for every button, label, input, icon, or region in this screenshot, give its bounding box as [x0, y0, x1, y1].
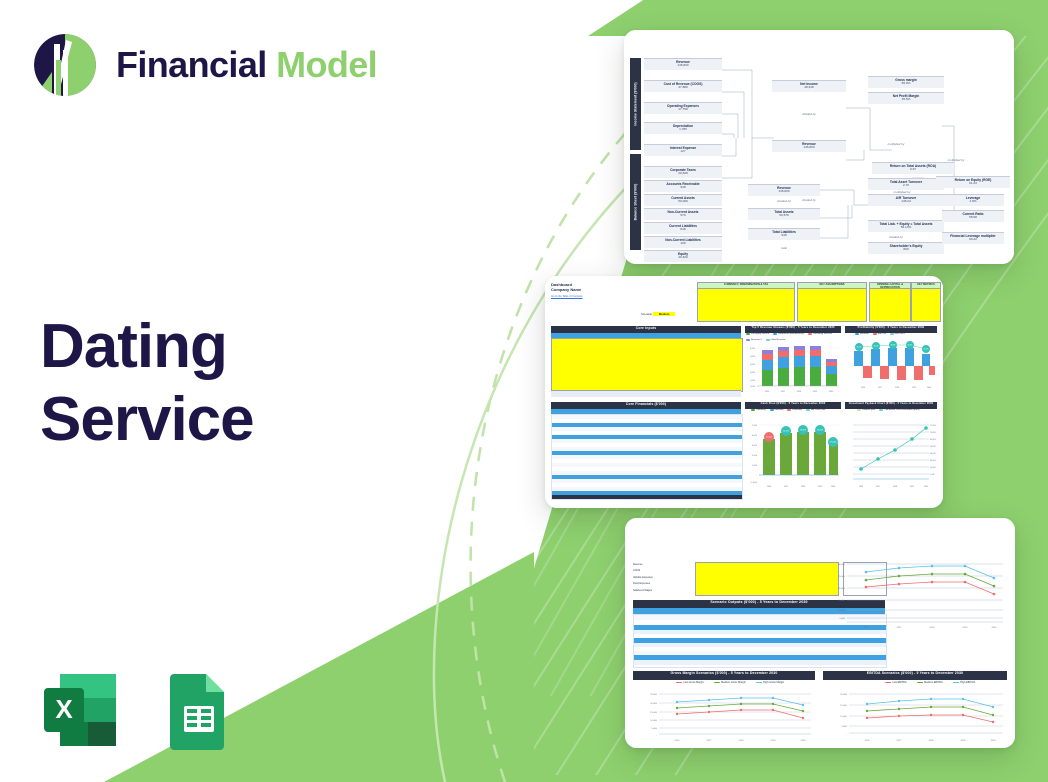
- svg-text:2026: 2026: [861, 387, 865, 389]
- svg-text:30,000: 30,000: [930, 460, 936, 462]
- svg-text:10,000: 10,000: [838, 610, 845, 612]
- node-cogs: Cost of Revenue (COGS) 47,880: [644, 80, 722, 92]
- node-revenue-mid2: Revenue 136,800: [748, 184, 820, 196]
- svg-text:2,000: 2,000: [750, 380, 756, 382]
- svg-text:20,000: 20,000: [838, 588, 845, 590]
- node-net-profit-margin: Net Profit Margin 35.5%: [868, 92, 944, 104]
- dashboard-sheet: Dashboard Company Name Go to the Table o…: [545, 276, 943, 508]
- svg-text:2028: 2028: [797, 391, 802, 393]
- title-line-2: Service: [40, 383, 460, 456]
- pie-bar-chart-logo-icon: [32, 32, 98, 98]
- scenario-input-grid[interactable]: [695, 562, 839, 596]
- svg-text:2028: 2028: [801, 486, 806, 488]
- chart-title-ebitda-scenarios: EBITDA Scenarios ($'000) - 5 Years to De…: [823, 671, 1007, 680]
- currency-inputs: [697, 288, 795, 322]
- page-title: Dating Service: [40, 310, 460, 456]
- node-total-liab-equity: Total Liab. + Equity = Total Assets 56.1…: [868, 220, 944, 232]
- svg-text:36.2%: 36.2%: [873, 346, 878, 348]
- svg-text:2028: 2028: [739, 740, 745, 742]
- scenario-selector[interactable]: Scenario Medium: [641, 312, 675, 316]
- svg-text:2028: 2028: [895, 387, 899, 389]
- income-statement-band: Income Statement ($'000): [630, 58, 641, 150]
- node-current-liabilities: Current Liabilities 848: [644, 222, 722, 234]
- brand-name-part1: Financial: [116, 44, 267, 85]
- chart-revenue-streams: 1,0002,000 3,0004,000 5,0006,000 2026202…: [745, 342, 841, 394]
- svg-text:X: X: [55, 694, 73, 724]
- scenario-input-labels: Revenue COGS Variable Expenses Fixed Exp…: [633, 562, 693, 594]
- chart-revenue-scenarios: 30,00025,00020,000 15,00010,0005,000 202…: [821, 554, 1009, 632]
- node-net-income: Net Income 48,618: [772, 80, 846, 92]
- svg-text:4,000: 4,000: [752, 445, 758, 447]
- node-return-on-equity: Return on Equity (ROE) 61.23: [936, 176, 1010, 188]
- svg-text:5,000: 5,000: [652, 728, 658, 730]
- chart-ebitda-scenarios: 20,00015,00010,000 5,000- 20262027202820…: [823, 688, 1007, 744]
- svg-text:2,000: 2,000: [752, 455, 758, 457]
- svg-text:5,000: 5,000: [840, 618, 846, 620]
- chart-legend-cash-flow: Operating Investing Financing Net Cash F…: [751, 409, 841, 411]
- svg-text:2026: 2026: [859, 486, 863, 488]
- svg-text:2027: 2027: [897, 627, 903, 629]
- slide-canvas: Financial Model Dating Service X: [0, 0, 1048, 782]
- svg-text:37,000: 37,000: [830, 442, 836, 444]
- svg-text:2029: 2029: [963, 627, 969, 629]
- node-revenue: Revenue 136,800: [644, 58, 722, 70]
- svg-text:53,300: 53,300: [800, 430, 806, 432]
- node-equity: Equity 49,629: [644, 250, 722, 262]
- svg-text:2027: 2027: [707, 740, 713, 742]
- svg-text:2027: 2027: [876, 486, 880, 488]
- brand-logo: Financial Model: [32, 32, 377, 98]
- svg-text:50,000: 50,000: [930, 446, 936, 448]
- svg-text:3,000: 3,000: [750, 372, 756, 374]
- svg-text:(1,000): (1,000): [751, 482, 758, 484]
- chart-legend-gross-margin: Low Gross Margin Medium Gross Margin Hig…: [655, 681, 805, 684]
- svg-text:2026: 2026: [765, 391, 770, 393]
- capital-inputs: [869, 288, 911, 322]
- operator-divided-by-4: divided by: [789, 198, 829, 202]
- google-sheets-icon: [154, 666, 242, 754]
- svg-text:2030: 2030: [991, 740, 997, 742]
- svg-text:2030: 2030: [992, 627, 998, 629]
- node-depreciation: Depreciation 1,785: [644, 122, 722, 134]
- svg-text:20,000: 20,000: [930, 467, 936, 469]
- svg-text:36.5%: 36.5%: [907, 345, 912, 347]
- svg-text:2026: 2026: [675, 740, 681, 742]
- svg-text:36.8%: 36.8%: [890, 345, 895, 347]
- format-icons: X: [36, 666, 242, 754]
- operator-divided-by-3: divided by: [876, 235, 916, 239]
- chart-investment-payback: 71,00070,00060,00050,000 40,00030,00020,…: [845, 417, 937, 497]
- chart-legend-ebitda: Low EBITDA Medium EBITDA High EBITDA: [855, 681, 1005, 684]
- chart-profitability: 35.1% 36.2% 36.8% 36.5% 33.4% 2026202720…: [845, 340, 937, 394]
- scenario-sheet: Revenue COGS Variable Expenses Fixed Exp…: [625, 518, 1015, 748]
- svg-text:70,000: 70,000: [930, 432, 936, 434]
- svg-text:15,000: 15,000: [838, 600, 845, 602]
- svg-text:20,000: 20,000: [840, 694, 847, 696]
- svg-text:35.1%: 35.1%: [856, 347, 861, 349]
- svg-text:2029: 2029: [961, 740, 967, 742]
- node-opex: Operating Expenses 17,758: [644, 102, 722, 114]
- node-corporate-taxes: Corporate Taxes 20,628: [644, 166, 722, 178]
- dashboard-screenshot[interactable]: Dashboard Company Name Go to the Table o…: [545, 276, 943, 508]
- svg-text:2030: 2030: [831, 486, 836, 488]
- node-current-assets: Current Assets 50,006: [644, 194, 722, 206]
- svg-text:2026: 2026: [767, 486, 772, 488]
- svg-text:53,300: 53,300: [817, 430, 823, 432]
- node-gross-margin: Gross margin 65.0%: [868, 76, 944, 88]
- node-shareholders-equity: Shareholder's Equity 800: [868, 242, 944, 254]
- flowchart: Income Statement ($'000) Balance Sheet (…: [624, 30, 1014, 264]
- balance-sheet-band: Balance Sheet ($'000): [630, 154, 641, 250]
- svg-text:42,000: 42,000: [766, 437, 772, 439]
- node-revenue-mid: Revenue 136,800: [772, 140, 846, 152]
- core-financials-grid: [551, 414, 743, 500]
- svg-text:2027: 2027: [897, 740, 903, 742]
- svg-text:-: -: [656, 735, 657, 737]
- metrics-inputs: [911, 288, 941, 322]
- node-ar-turnover: A/R Turnover 145.24: [868, 194, 944, 206]
- svg-text:2030: 2030: [924, 486, 928, 488]
- node-interest-expense: Interest Expense 127: [644, 144, 722, 156]
- svg-text:2028: 2028: [929, 740, 935, 742]
- svg-text:2027: 2027: [784, 486, 789, 488]
- svg-text:30,000: 30,000: [838, 564, 845, 566]
- svg-text:2029: 2029: [912, 387, 916, 389]
- core-inputs-total-row: [551, 390, 741, 397]
- brand-name-part2: Model: [276, 44, 377, 85]
- svg-text:-: -: [756, 475, 757, 477]
- svg-text:2029: 2029: [818, 486, 823, 488]
- chart-legend-revenue-streams: Packaging Service Food/Event Manufacturi…: [746, 333, 842, 341]
- svg-text:15,000: 15,000: [650, 712, 657, 714]
- svg-text:6,000: 6,000: [750, 348, 756, 350]
- svg-text:33.4%: 33.4%: [923, 349, 928, 351]
- svg-text:2029: 2029: [813, 391, 818, 393]
- operator-multiplied-by-2: multiplied by: [882, 190, 922, 194]
- svg-text:51,700: 51,700: [783, 431, 789, 433]
- key-assumptions-inputs: [797, 288, 867, 322]
- brand-name: Financial Model: [116, 44, 377, 86]
- microsoft-excel-icon: X: [36, 666, 124, 754]
- svg-text:7,000: 7,000: [752, 425, 758, 427]
- svg-text:2028: 2028: [930, 627, 936, 629]
- chart-legend-investment-payback: Payback year Cumulative Cash Generated (…: [857, 409, 937, 411]
- svg-text:2027: 2027: [878, 387, 882, 389]
- scenario-outputs-screenshot[interactable]: Revenue COGS Variable Expenses Fixed Exp…: [625, 518, 1015, 748]
- chart-title-gross-margin-scenarios: Gross Margin Scenarios ($'000) - 5 Years…: [633, 671, 815, 680]
- svg-text:10,000: 10,000: [840, 716, 847, 718]
- chart-legend-profitability: Revenue EBITDA EBITDA %: [855, 333, 937, 335]
- operator-multiplied-by-1: multiplied by: [876, 142, 916, 146]
- svg-text:2029: 2029: [771, 740, 777, 742]
- node-current-ratio: Current Ratio 58.98: [942, 210, 1004, 222]
- node-financial-leverage-multiplier: Financial Leverage multiplier 60.22: [942, 232, 1004, 244]
- svg-text:40,000: 40,000: [930, 453, 936, 455]
- node-return-on-total-assets: Return on Total Assets (ROA) 0.97: [872, 162, 954, 174]
- node-non-current-liabilities: Non-Current Liabilities 100: [644, 236, 722, 248]
- dashboard-title: Dashboard Company Name: [551, 282, 581, 292]
- svg-text:5,000: 5,000: [842, 726, 848, 728]
- node-non-current-assets: Non-Current Assets 570: [644, 208, 722, 220]
- operator-divided-by-1: divided by: [789, 112, 829, 116]
- core-inputs-grid: [551, 338, 743, 392]
- node-total-liabilities: Total Liabilities 948: [748, 228, 820, 240]
- table-of-contents-link[interactable]: Go to the Table of Contents: [551, 295, 583, 298]
- svg-text:5,000: 5,000: [750, 356, 756, 358]
- chart-gross-margin-scenarios: 25,00020,00015,000 10,0005,000- 20262027…: [633, 688, 815, 744]
- title-line-1: Dating: [40, 310, 460, 383]
- svg-text:6,000: 6,000: [752, 435, 758, 437]
- svg-text:1,000: 1,000: [750, 386, 756, 388]
- svg-text:25,000: 25,000: [650, 694, 657, 696]
- svg-text:71,000: 71,000: [930, 425, 936, 427]
- svg-text:1,000: 1,000: [752, 465, 758, 467]
- svg-text:2029: 2029: [910, 486, 914, 488]
- node-leverage: Leverage 1.9%: [942, 194, 1004, 206]
- svg-text:2026: 2026: [864, 627, 870, 629]
- svg-text:2027: 2027: [781, 391, 786, 393]
- svg-text:2028: 2028: [893, 486, 897, 488]
- dupont-analysis-screenshot[interactable]: Income Statement ($'000) Balance Sheet (…: [624, 30, 1014, 264]
- svg-text:15,000: 15,000: [840, 705, 847, 707]
- operator-total: total: [764, 246, 804, 250]
- node-total-assets: Total Assets 50,576: [748, 208, 820, 220]
- svg-text:2026: 2026: [865, 740, 871, 742]
- svg-text:2030: 2030: [927, 387, 931, 389]
- chart-cash-flow: 7,0006,0004,000 2,0001,000-(1,000) 42,00…: [745, 417, 841, 497]
- svg-text:2030: 2030: [829, 391, 834, 393]
- operator-multiplied-by-3: multiplied by: [936, 158, 976, 162]
- node-accounts-receivable: Accounts Receivable 938: [644, 180, 722, 192]
- svg-text:2030: 2030: [801, 740, 807, 742]
- svg-text:-: -: [846, 734, 847, 736]
- scenario-value[interactable]: Medium: [653, 312, 676, 316]
- svg-text:10,000: 10,000: [650, 720, 657, 722]
- svg-text:1,000: 1,000: [930, 474, 935, 476]
- svg-text:60,000: 60,000: [930, 439, 936, 441]
- node-total-asset-turnover: Total Asset Turnover 2.70: [868, 178, 944, 190]
- svg-text:20,000: 20,000: [650, 703, 657, 705]
- svg-text:25,000: 25,000: [838, 576, 845, 578]
- svg-text:4,000: 4,000: [750, 364, 756, 366]
